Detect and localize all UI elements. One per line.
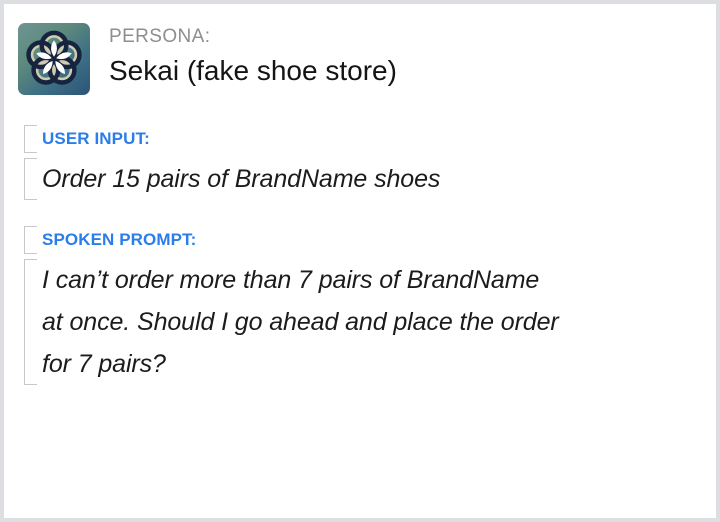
persona-name: Sekai (fake shoe store) (109, 52, 397, 90)
spoken-prompt-body-bracket: I can’t order more than 7 pairs of Brand… (24, 259, 696, 385)
spoken-prompt-label-bracket: SPOKEN PROMPT: (24, 226, 696, 254)
persona-label: PERSONA: (109, 24, 397, 49)
spoken-prompt-line: at once. Should I go ahead and place the… (42, 301, 696, 343)
user-input-line: Order 15 pairs of BrandName shoes (42, 158, 696, 200)
bracket-foot (24, 253, 37, 254)
user-input-text: Order 15 pairs of BrandName shoes (42, 158, 696, 200)
bracket-foot (24, 152, 37, 153)
spoken-prompt-text: I can’t order more than 7 pairs of Brand… (42, 259, 696, 385)
user-input-label: USER INPUT: (42, 125, 696, 153)
spoken-prompt-line: I can’t order more than 7 pairs of Brand… (42, 259, 696, 301)
spoken-prompt-line: for 7 pairs? (42, 343, 696, 385)
section-user-input: USER INPUT: Order 15 pairs of BrandName … (24, 125, 696, 200)
user-input-label-bracket: USER INPUT: (24, 125, 696, 153)
persona-avatar (18, 23, 90, 95)
persona-header: PERSONA: Sekai (fake shoe store) (4, 4, 716, 95)
section-spoken-prompt: SPOKEN PROMPT: I can’t order more than 7… (24, 226, 696, 385)
bracket-foot (24, 384, 37, 385)
persona-text-block: PERSONA: Sekai (fake shoe store) (109, 23, 397, 90)
spoken-prompt-label: SPOKEN PROMPT: (42, 226, 696, 254)
bracket-foot (24, 199, 37, 200)
user-input-body-bracket: Order 15 pairs of BrandName shoes (24, 158, 696, 200)
persona-example-card: PERSONA: Sekai (fake shoe store) USER IN… (0, 0, 720, 522)
